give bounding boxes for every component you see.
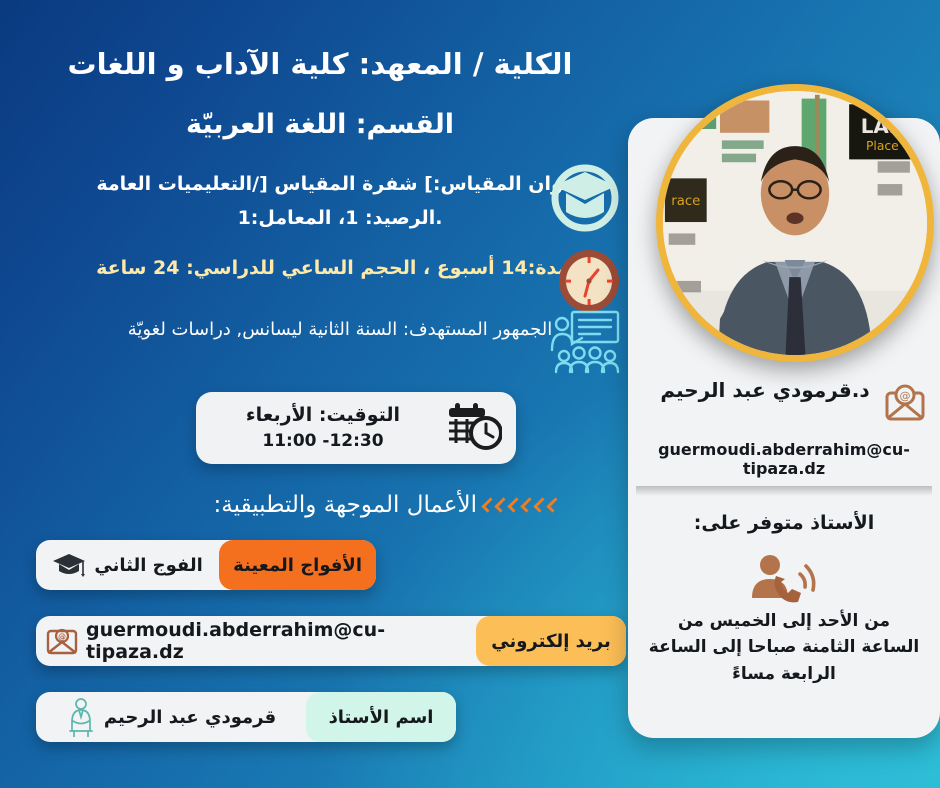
- email-value-wrap: @ guermoudi.abderrahim@cu-tipaza.dz: [36, 619, 476, 663]
- info-row-groups: الأفواج المعينة الفوج الثاني: [36, 540, 376, 590]
- schedule-text: التوقيت: الأربعاء 11:00 -12:30: [210, 405, 436, 451]
- chevron-left-icon: [496, 496, 508, 514]
- svg-text:@: @: [900, 390, 911, 403]
- svg-text:@: @: [58, 633, 66, 642]
- availability-text: من الأحد إلى الخميس من الساعة الثامنة صب…: [648, 608, 920, 687]
- section-heading: الأعمال الموجهة والتطبيقية:: [120, 484, 560, 526]
- poster-root: الكلية / المعهد: كلية الآداب و اللغات ال…: [0, 0, 940, 788]
- course-credits: .الرصيد: 1، المعامل:1: [60, 206, 620, 232]
- section-heading-label: الأعمال الموجهة والتطبيقية:: [214, 492, 477, 518]
- chevron-left-icon: [535, 496, 547, 514]
- availability-title: الأستاذ متوفر على:: [636, 512, 932, 534]
- email-value[interactable]: guermoudi.abderrahim@cu-tipaza.dz: [86, 619, 466, 663]
- graduation-cap-icon: [52, 552, 86, 578]
- profile-name: د.قرمودي عبد الرحيم: [640, 378, 890, 402]
- card-divider: [636, 486, 932, 496]
- mail-icon: @: [46, 627, 78, 655]
- classroom-audience-icon: [548, 308, 622, 374]
- course-duration: المدة:14 أسبوع ، الحجم الساعي للدراسي: 2…: [60, 256, 620, 282]
- chevron-left-icons: [483, 496, 560, 514]
- chevron-left-icon: [509, 496, 521, 514]
- groups-tag-label: الأفواج المعينة: [219, 540, 376, 590]
- mail-open-icon: @: [884, 382, 926, 422]
- profile-email[interactable]: guermoudi.abderrahim@cu-tipaza.dz: [636, 440, 932, 478]
- teacher-value: قرمودي عبد الرحيم: [104, 707, 276, 728]
- info-row-teacher: اسم الأستاذ قرمودي عبد الرحيم: [36, 692, 456, 742]
- course-code-block: عنوان المقياس:] شفرة المقياس [/التعليميا…: [60, 172, 620, 231]
- schedule-box: التوقيت: الأربعاء 11:00 -12:30: [196, 392, 516, 464]
- chevron-left-icon: [522, 496, 534, 514]
- calendar-clock-icon: [446, 402, 502, 454]
- chevron-left-icon: [548, 496, 560, 514]
- groups-value: الفوج الثاني: [94, 555, 202, 576]
- teacher-tag-label: اسم الأستاذ: [306, 692, 456, 742]
- svg-text:race: race: [671, 194, 700, 209]
- course-audience: الجمهور المستهدف: السنة الثانية ليسانس, …: [60, 318, 620, 342]
- clock-icon: [556, 248, 622, 314]
- info-row-email: بريد إلكتروني @ guermoudi.abderrahim@cu-…: [36, 616, 626, 666]
- person-phone-icon: [748, 552, 820, 610]
- groups-value-wrap: الفوج الثاني: [36, 552, 219, 578]
- chevron-left-icon: [483, 496, 495, 514]
- graduation-cap-icon: [548, 160, 622, 232]
- profile-photo-illustration: LAB Place race: [663, 91, 927, 355]
- schedule-day: التوقيت: الأربعاء: [210, 405, 436, 427]
- schedule-time: 11:00 -12:30: [210, 431, 436, 451]
- email-tag-label: بريد إلكتروني: [476, 616, 626, 666]
- svg-text:Place: Place: [866, 139, 899, 153]
- profile-photo: LAB Place race: [656, 84, 934, 362]
- left-column: الكلية / المعهد: كلية الآداب و اللغات ال…: [0, 0, 640, 788]
- teacher-value-wrap: قرمودي عبد الرحيم: [36, 697, 306, 737]
- faculty-title: الكلية / المعهد: كلية الآداب و اللغات: [20, 46, 620, 82]
- department-title: القسم: اللغة العربيّة: [20, 108, 620, 142]
- teacher-icon: [66, 697, 96, 737]
- course-title-code: عنوان المقياس:] شفرة المقياس [/التعليميا…: [96, 173, 583, 195]
